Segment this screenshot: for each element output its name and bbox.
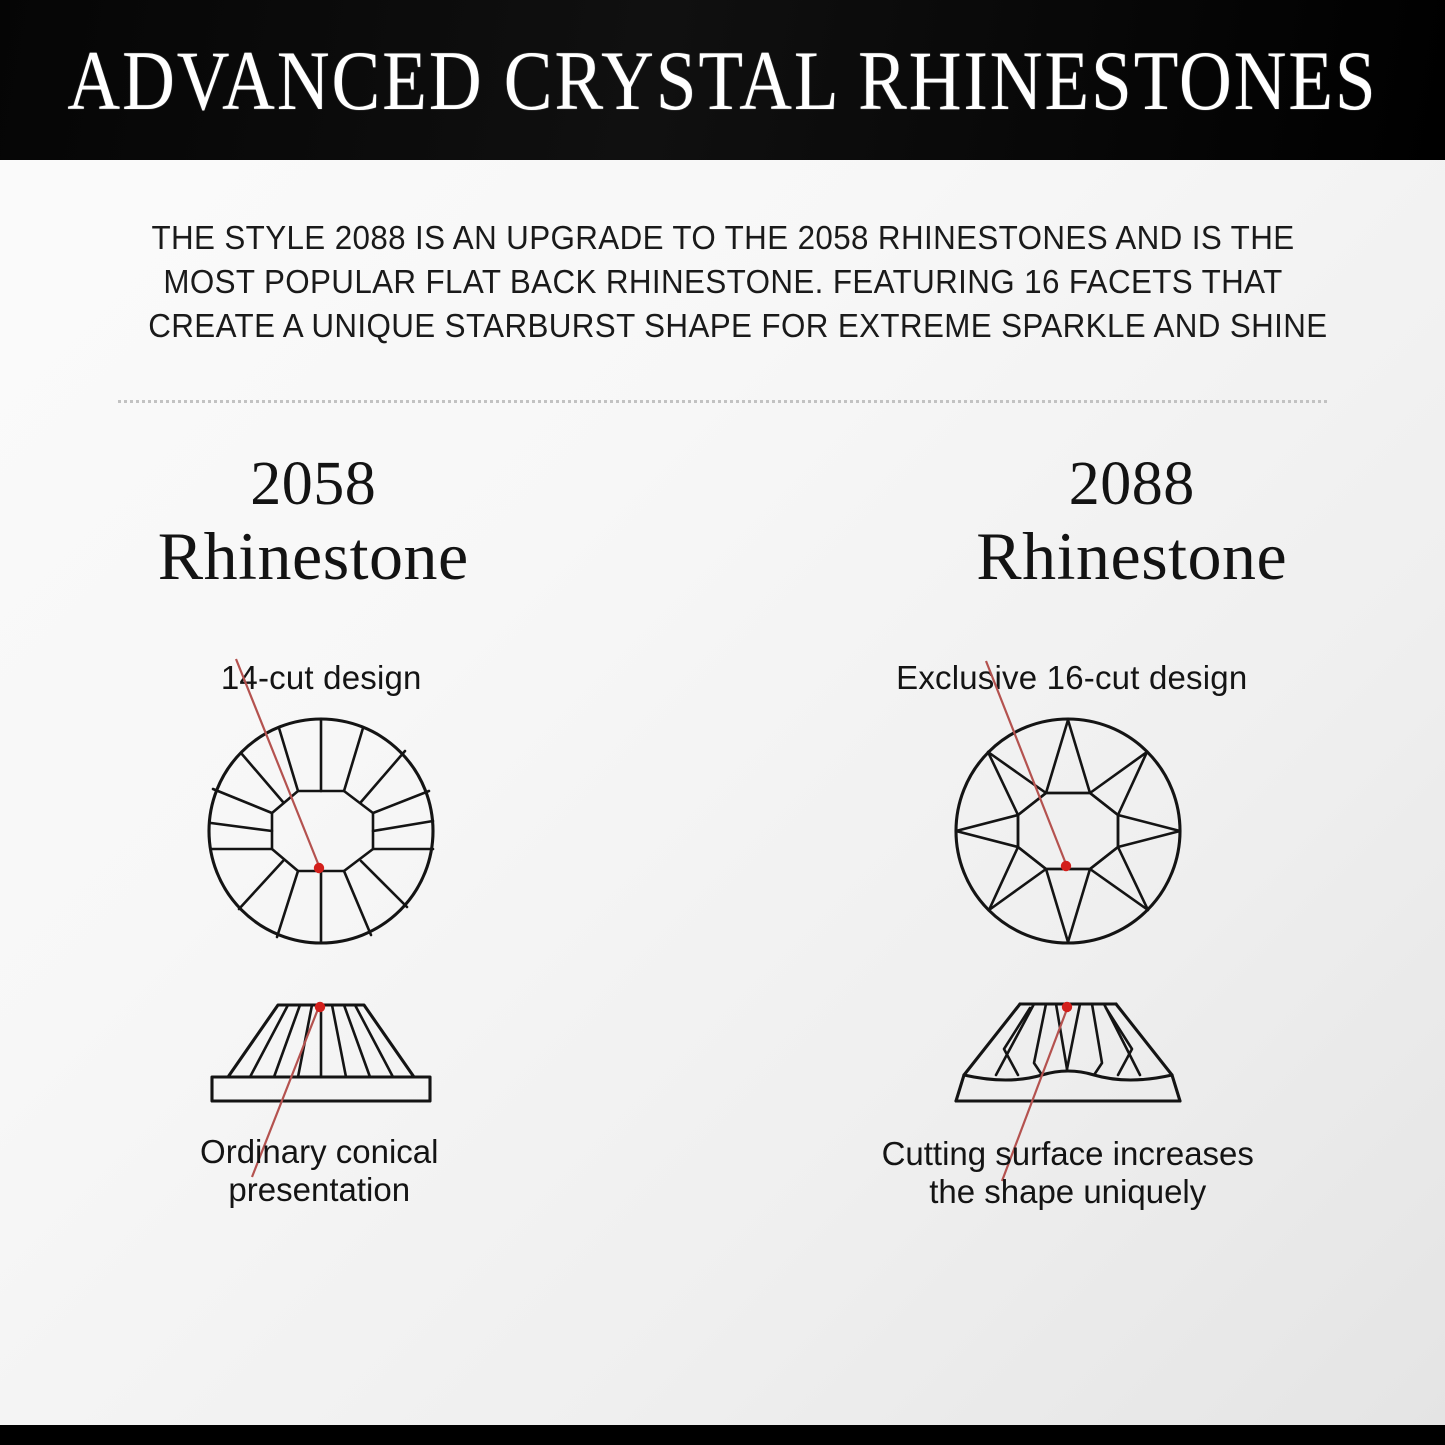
column-2058-word: Rhinestone xyxy=(158,522,469,591)
crystal-2088-top-svg xyxy=(938,703,1198,953)
column-2088: 2088 Rhinestone Exclusive 16-cut design xyxy=(723,403,1445,1445)
caption-2058-line-2: presentation xyxy=(200,1171,438,1209)
column-2088-word: Rhinestone xyxy=(976,522,1287,591)
column-2058: 2058 Rhinestone 14-cut design xyxy=(0,403,723,1445)
crystal-2058-top-svg xyxy=(191,703,451,953)
caption-2088: Cutting surface increases the shape uniq… xyxy=(882,1135,1254,1212)
header-banner: ADVANCED CRYSTAL RHINESTONES xyxy=(0,0,1445,160)
column-2058-title: 2058 Rhinestone xyxy=(158,453,469,592)
crystal-2058-side-svg xyxy=(190,991,452,1111)
annotation-14-cut-design: 14-cut design xyxy=(221,659,422,697)
column-2088-number: 2088 xyxy=(976,453,1287,516)
caption-2058-line-1: Ordinary conical xyxy=(200,1133,438,1171)
diagram-2058-top-view xyxy=(191,703,451,953)
diagram-2058-side-view xyxy=(190,991,452,1111)
annotation-16-cut-design: Exclusive 16-cut design xyxy=(896,659,1247,697)
footer-bar xyxy=(0,1425,1445,1445)
caption-2088-line-1: Cutting surface increases xyxy=(882,1135,1254,1173)
page-title: ADVANCED CRYSTAL RHINESTONES xyxy=(67,38,1377,123)
crystal-2088-side-svg xyxy=(934,991,1202,1113)
diagram-2088-side-view xyxy=(934,991,1202,1113)
description-paragraph: THE STYLE 2088 IS AN UPGRADE TO THE 2058… xyxy=(148,216,1298,348)
infographic-page: ADVANCED CRYSTAL RHINESTONES THE STYLE 2… xyxy=(0,0,1445,1445)
description-line-3: CREATE A UNIQUE STARBURST SHAPE FOR EXTR… xyxy=(148,304,1298,348)
caption-2088-line-2: the shape uniquely xyxy=(882,1173,1254,1211)
comparison-columns: 2058 Rhinestone 14-cut design xyxy=(0,403,1445,1445)
description-line-1: THE STYLE 2088 IS AN UPGRADE TO THE 2058… xyxy=(148,216,1298,260)
column-2058-number: 2058 xyxy=(158,453,469,516)
column-2088-title: 2088 Rhinestone xyxy=(976,453,1287,592)
diagram-2088-top-view xyxy=(938,703,1198,953)
description-line-2: MOST POPULAR FLAT BACK RHINESTONE. FEATU… xyxy=(148,260,1298,304)
caption-2058: Ordinary conical presentation xyxy=(200,1133,438,1210)
